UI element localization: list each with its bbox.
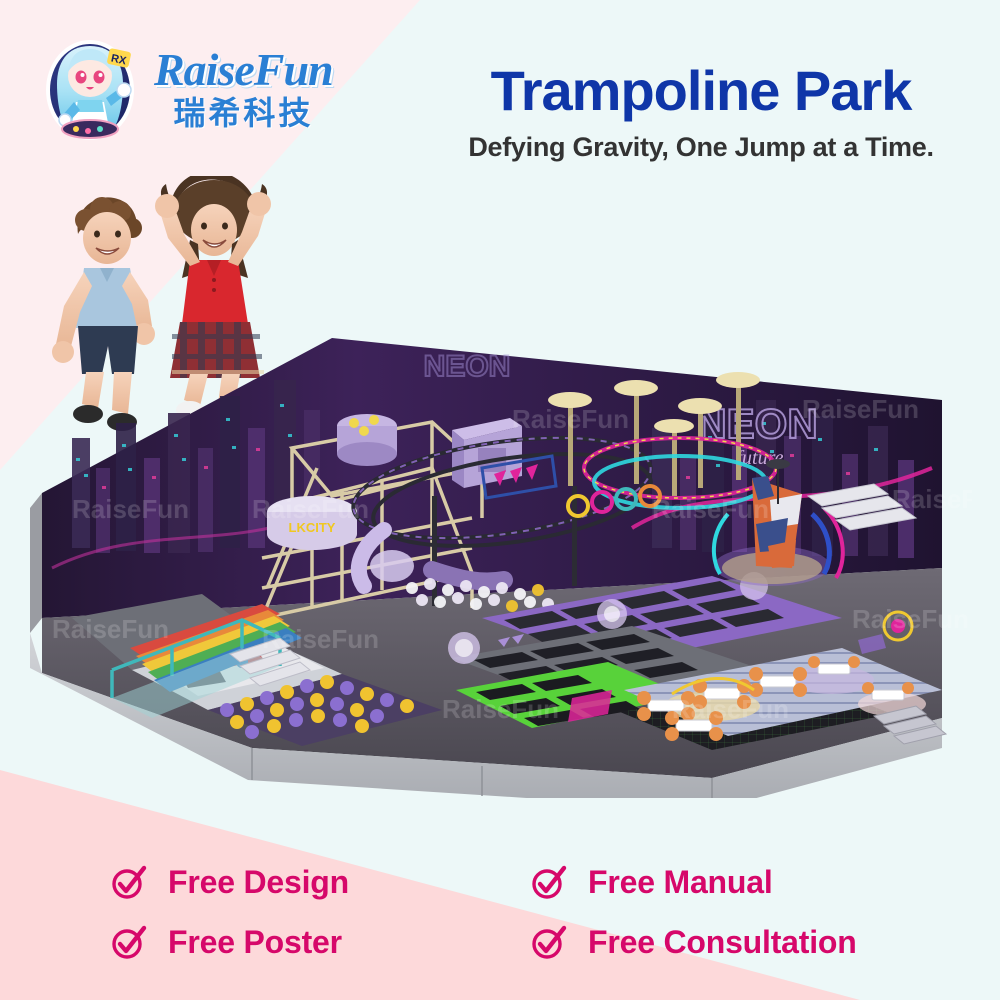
feature-label: Free Consultation — [588, 924, 857, 961]
brand-logo[interactable]: RX RaiseFun 瑞希科技 — [36, 32, 333, 144]
brand-name-cn: 瑞希科技 — [154, 97, 333, 129]
park-render: NEON future NEON — [12, 318, 972, 798]
svg-text:RaiseFun: RaiseFun — [52, 614, 169, 644]
svg-text:RaiseFun: RaiseFun — [652, 494, 769, 524]
poster-canvas: RX RaiseFun 瑞希科技 Trampoline Park Defying… — [0, 0, 1000, 1000]
feature-label: Free Poster — [168, 924, 342, 961]
feature-item-free-design[interactable]: Free Design — [110, 863, 530, 901]
svg-text:RaiseFun: RaiseFun — [442, 694, 559, 724]
page-title: Trampoline Park — [420, 58, 982, 123]
svg-text:RaiseFun: RaiseFun — [262, 624, 379, 654]
svg-text:RaiseFun: RaiseFun — [72, 494, 189, 524]
check-circle-icon — [530, 923, 568, 961]
page-tagline: Defying Gravity, One Jump at a Time. — [420, 132, 982, 163]
svg-text:RaiseFun: RaiseFun — [892, 484, 972, 514]
mascot-icon: RX — [36, 32, 144, 144]
check-circle-icon — [110, 923, 148, 961]
svg-text:NEON: NEON — [424, 350, 511, 383]
brand-name-en: RaiseFun — [154, 47, 333, 93]
feature-label: Free Design — [168, 864, 349, 901]
svg-text:RaiseFun: RaiseFun — [512, 404, 629, 434]
check-circle-icon — [530, 863, 568, 901]
features-list: Free Design Free Manual Free Poster — [110, 852, 940, 972]
feature-item-free-consultation[interactable]: Free Consultation — [530, 923, 940, 961]
svg-text:RaiseFun: RaiseFun — [802, 394, 919, 424]
feature-item-free-poster[interactable]: Free Poster — [110, 923, 530, 961]
svg-text:RaiseFun: RaiseFun — [852, 604, 969, 634]
check-circle-icon — [110, 863, 148, 901]
feature-label: Free Manual — [588, 864, 773, 901]
svg-text:RaiseFun: RaiseFun — [672, 694, 789, 724]
svg-text:RaiseFun: RaiseFun — [252, 494, 369, 524]
feature-item-free-manual[interactable]: Free Manual — [530, 863, 940, 901]
